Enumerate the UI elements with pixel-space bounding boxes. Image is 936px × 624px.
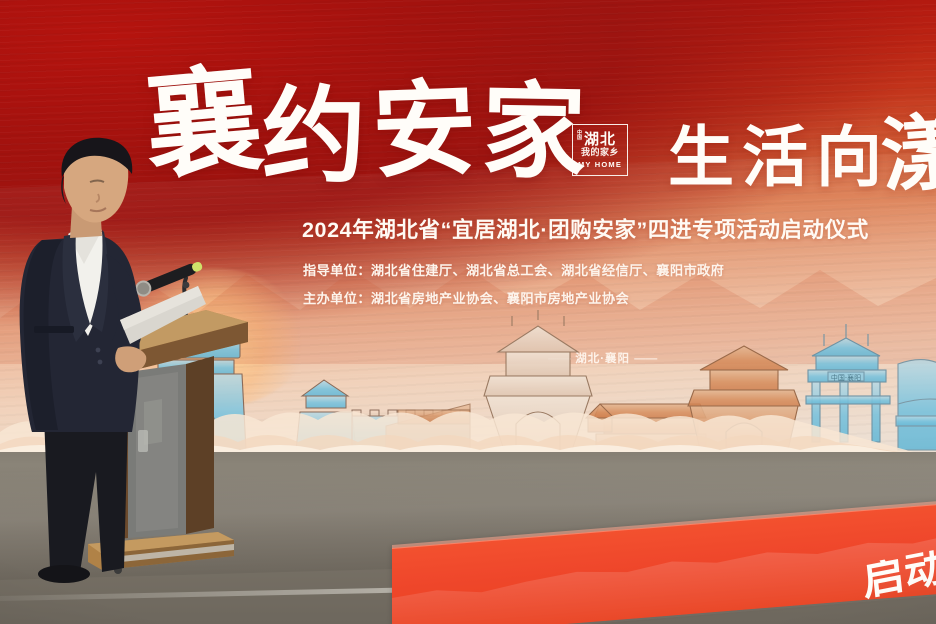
screenshot-root: 襄约安家 生活向漾 中国 湖北 我的家乡 MY HOME 2024年湖北省“宜居… <box>0 0 936 624</box>
event-subtitle: 2024年湖北省“宜居湖北·团购安家”四进专项活动启动仪式 <box>302 213 869 244</box>
my-home-logo: 中国 湖北 我的家乡 MY HOME <box>572 124 628 176</box>
speaker <box>6 136 206 616</box>
headline-secondary: 生活向 <box>668 118 890 196</box>
paifang-label: 中国·襄阳 <box>831 373 861 382</box>
logo-seal-text: 中国 <box>575 131 584 147</box>
logo-cn-bottom: 我的家乡 <box>581 149 619 158</box>
headline-char-2: 约 <box>262 51 372 202</box>
logo-en-text: MY HOME <box>578 161 622 169</box>
speaker-hand <box>115 346 146 372</box>
speaker-trousers <box>44 416 128 572</box>
logo-cn-top: 湖北 <box>584 132 616 147</box>
headline-main: 襄约安家 <box>151 40 594 199</box>
credit-line-guidance: 指导单位：湖北省住建厅、湖北省总工会、湖北省经信厅、襄阳市政府 <box>303 260 724 279</box>
headline-secondary-block: 生活向漾 <box>668 104 936 200</box>
headline-char-3: 安 <box>369 43 484 198</box>
speaker-shoe <box>38 565 90 583</box>
headline-secondary-cut-char: 漾 <box>876 84 936 210</box>
headline-char-4: 家 <box>481 46 594 199</box>
